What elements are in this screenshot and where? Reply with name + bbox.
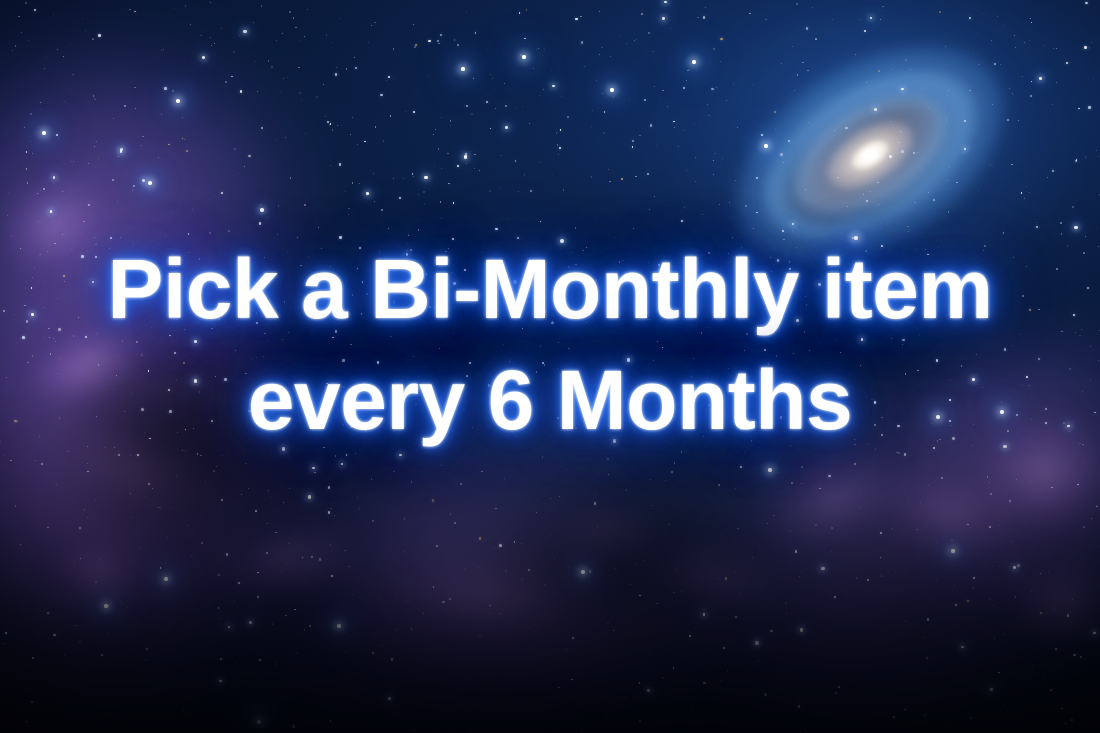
star-faint: [266, 426, 267, 427]
star-faint: [565, 649, 566, 650]
star-faint: [865, 251, 866, 252]
star-faint: [1014, 596, 1015, 597]
star-beacon: [1000, 410, 1004, 414]
star-small: [687, 307, 689, 309]
star-small: [1026, 376, 1028, 378]
star-faint: [96, 416, 97, 417]
star-small: [1067, 614, 1070, 617]
star-faint: [145, 659, 147, 661]
star-bright: [755, 641, 759, 645]
star-faint: [183, 710, 185, 712]
star-faint: [619, 261, 620, 262]
star-faint: [578, 592, 579, 593]
star-faint: [734, 572, 735, 573]
star-faint: [882, 630, 883, 631]
star-faint: [728, 368, 729, 369]
star-faint: [424, 203, 426, 205]
star-faint: [1067, 245, 1068, 246]
star-faint: [439, 348, 440, 349]
star-faint: [352, 117, 353, 118]
star-faint: [695, 181, 696, 182]
star-small: [332, 337, 334, 339]
star-faint: [1063, 422, 1065, 424]
star-faint: [596, 279, 598, 281]
star-small: [149, 438, 151, 440]
star-faint: [48, 328, 49, 329]
star-small: [160, 567, 162, 569]
star-faint: [708, 115, 709, 116]
star-faint: [722, 158, 723, 159]
star-faint: [1016, 479, 1017, 480]
star-faint: [900, 156, 901, 157]
star-faint: [122, 340, 124, 342]
star-faint: [444, 442, 446, 444]
star-small: [53, 634, 56, 637]
star-faint: [809, 350, 810, 351]
star-small: [226, 553, 228, 555]
star-faint: [200, 35, 201, 36]
star-faint: [445, 251, 447, 253]
star-faint: [624, 696, 625, 697]
star-faint: [891, 689, 892, 690]
star-small: [1088, 106, 1091, 109]
star-faint: [661, 425, 662, 426]
star-faint: [40, 190, 41, 191]
star-faint: [44, 68, 45, 69]
star-bright: [1067, 425, 1070, 428]
star-faint: [779, 472, 780, 473]
star-faint: [490, 613, 491, 614]
star-faint: [256, 312, 258, 314]
star-faint: [182, 117, 183, 118]
star-faint: [185, 450, 187, 452]
star-faint: [118, 156, 119, 157]
star-faint: [703, 436, 704, 437]
star-faint: [1022, 76, 1023, 77]
star-faint: [211, 45, 212, 46]
star-faint: [969, 90, 970, 91]
star-beacon: [936, 415, 941, 420]
star-faint: [837, 396, 838, 397]
star-faint: [300, 265, 302, 267]
star-small: [933, 199, 935, 201]
star-faint: [775, 682, 776, 683]
star-faint: [282, 339, 284, 341]
star-small: [406, 390, 408, 392]
star-faint: [847, 593, 848, 594]
star-faint: [1098, 246, 1100, 248]
star-faint: [921, 584, 922, 585]
star-small: [880, 557, 882, 559]
star-faint: [325, 523, 326, 524]
star-faint: [701, 332, 702, 333]
star-faint: [98, 268, 100, 270]
star-small: [362, 281, 364, 283]
star-faint: [783, 239, 784, 240]
star-small: [489, 605, 491, 607]
star-faint: [1043, 676, 1045, 678]
star-faint: [366, 293, 368, 295]
star-faint: [11, 236, 12, 237]
star-small: [763, 421, 765, 423]
star-faint: [571, 245, 572, 246]
star-faint: [544, 49, 546, 51]
star-faint: [589, 582, 590, 583]
star-faint: [891, 338, 892, 339]
star-faint: [881, 576, 882, 577]
star-small: [806, 27, 809, 30]
star-faint: [769, 416, 771, 418]
star-faint: [321, 248, 322, 249]
star-faint: [987, 476, 988, 477]
star-bright: [889, 273, 893, 277]
star-faint: [757, 660, 759, 662]
star-faint: [438, 43, 440, 45]
star-faint: [329, 342, 331, 344]
star-faint: [349, 503, 350, 504]
star-faint: [215, 376, 216, 377]
star-faint: [280, 572, 281, 573]
star-faint: [189, 712, 190, 713]
star-faint: [280, 91, 281, 92]
star-faint: [819, 572, 820, 573]
star-faint: [675, 674, 676, 675]
star-faint: [99, 558, 101, 560]
star-faint: [735, 488, 736, 489]
star-small: [495, 228, 498, 231]
star-faint: [307, 9, 309, 11]
star-faint: [199, 258, 200, 259]
star-faint: [1006, 710, 1007, 711]
star-small: [756, 177, 758, 179]
star-faint: [690, 653, 691, 654]
star-faint: [908, 501, 909, 502]
star-small: [834, 596, 836, 598]
star-small: [589, 570, 592, 573]
star-bright: [1003, 445, 1006, 448]
star-faint: [67, 451, 68, 452]
star-faint: [656, 145, 657, 146]
star-beacon: [581, 570, 585, 574]
star-small: [740, 466, 742, 468]
star-small: [31, 287, 33, 289]
star-faint: [780, 696, 781, 697]
star-faint: [78, 317, 79, 318]
star-faint: [796, 247, 797, 248]
star-faint: [586, 567, 587, 568]
star-faint: [267, 340, 268, 341]
star-faint: [184, 329, 185, 330]
star-faint: [332, 42, 333, 43]
star-faint: [1011, 164, 1013, 166]
star-faint: [878, 50, 880, 52]
star-faint: [1038, 309, 1039, 310]
star-small: [770, 630, 773, 633]
star-small: [998, 672, 1000, 674]
star-faint: [200, 455, 201, 456]
star-faint: [566, 469, 567, 470]
star-faint: [185, 5, 187, 7]
star-small: [466, 375, 468, 377]
star-faint: [757, 726, 758, 727]
star-faint: [414, 46, 416, 48]
star-faint: [39, 436, 40, 437]
star-faint: [330, 266, 331, 267]
star-faint: [1093, 78, 1094, 79]
star-faint: [1022, 295, 1024, 297]
star-faint: [169, 623, 171, 625]
star-faint: [849, 419, 851, 421]
star-small: [927, 254, 929, 256]
star-small: [641, 13, 643, 15]
star-faint: [166, 656, 167, 657]
star-faint: [348, 208, 349, 209]
star-small: [735, 296, 737, 298]
star-faint: [558, 154, 559, 155]
star-faint: [925, 249, 926, 250]
star-faint: [744, 266, 746, 268]
star-bright: [31, 313, 34, 316]
star-faint: [908, 231, 909, 232]
star-faint: [391, 578, 392, 579]
nebula-wisp: [634, 526, 785, 624]
star-faint: [716, 87, 717, 88]
star-beacon: [764, 144, 768, 148]
star-faint: [49, 681, 50, 682]
star-faint: [37, 632, 38, 633]
star-faint: [905, 59, 907, 61]
star-faint: [386, 80, 387, 81]
star-faint: [806, 304, 807, 305]
star-faint: [1069, 368, 1071, 370]
star-faint: [536, 371, 537, 372]
star-faint: [686, 170, 687, 171]
star-faint: [395, 596, 396, 597]
star-faint: [987, 312, 988, 313]
star-beacon: [42, 131, 47, 136]
star-faint: [708, 252, 710, 254]
star-faint: [804, 331, 806, 333]
star-small: [1052, 170, 1054, 172]
star-small: [146, 648, 148, 650]
star-small: [499, 544, 502, 547]
star-small: [789, 261, 791, 263]
star-faint: [4, 665, 5, 666]
star-faint: [465, 289, 467, 291]
headline-line-2: every 6 Months: [0, 345, 1100, 456]
star-faint: [593, 533, 594, 534]
star-faint: [257, 91, 258, 92]
star-faint: [1084, 659, 1085, 660]
star-faint: [892, 528, 893, 529]
star-faint: [379, 251, 380, 252]
star-beacon: [148, 181, 153, 186]
star-small: [359, 247, 361, 249]
star-bright: [120, 148, 123, 151]
star-faint: [348, 214, 349, 215]
star-faint: [719, 204, 720, 205]
star-faint: [63, 723, 64, 724]
star-faint: [32, 153, 33, 154]
star-faint: [408, 233, 409, 234]
star-faint: [686, 80, 687, 81]
star-faint: [920, 502, 921, 503]
star-faint: [107, 462, 109, 464]
star-small: [703, 682, 706, 685]
star-faint: [44, 307, 45, 308]
star-faint: [55, 411, 56, 412]
star-faint: [520, 54, 522, 56]
star-faint: [990, 164, 991, 165]
star-faint: [124, 105, 125, 106]
star-small: [551, 322, 553, 324]
star-faint: [599, 11, 600, 12]
star-faint: [53, 338, 54, 339]
nebula-right-edge: [900, 330, 1100, 630]
star-faint: [167, 537, 168, 538]
star-faint: [275, 140, 276, 141]
star-small: [411, 628, 413, 630]
star-small: [897, 425, 899, 427]
star-bright: [424, 176, 428, 180]
star-faint: [648, 262, 649, 263]
star-faint: [1030, 18, 1031, 19]
star-faint: [557, 368, 558, 369]
star-small: [182, 138, 184, 140]
star-small: [452, 238, 454, 240]
star-faint: [982, 13, 983, 14]
star-faint: [323, 84, 324, 85]
star-faint: [151, 327, 153, 329]
star-small: [331, 575, 333, 577]
star-faint: [670, 28, 671, 29]
star-small: [594, 502, 596, 504]
star-small: [874, 401, 876, 403]
star-faint: [98, 158, 99, 159]
star-small: [3, 310, 5, 312]
star-small: [118, 454, 120, 456]
star-small: [410, 249, 412, 251]
star-small: [430, 404, 432, 406]
star-faint: [158, 507, 160, 509]
star-faint: [455, 728, 456, 729]
star-faint: [790, 445, 791, 446]
star-small: [810, 412, 812, 414]
star-faint: [773, 398, 774, 399]
star-small: [80, 558, 82, 560]
nebula-wisp: [397, 551, 573, 638]
star-faint: [375, 126, 376, 127]
star-faint: [201, 542, 202, 543]
star-faint: [404, 551, 405, 552]
star-faint: [219, 270, 221, 272]
star-faint: [626, 489, 628, 491]
star-small: [380, 94, 383, 97]
star-faint: [815, 38, 817, 40]
star-faint: [462, 581, 463, 582]
star-small: [867, 579, 869, 581]
star-faint: [554, 593, 555, 594]
star-faint: [263, 356, 264, 357]
star-faint: [6, 377, 7, 378]
star-faint: [49, 337, 50, 338]
star-faint: [470, 151, 471, 152]
star-faint: [1085, 158, 1086, 159]
star-faint: [902, 344, 903, 345]
star-faint: [437, 275, 438, 276]
star-small: [240, 90, 242, 92]
star-faint: [407, 601, 409, 603]
star-faint: [587, 718, 588, 719]
star-faint: [732, 237, 734, 239]
star-small: [936, 359, 938, 361]
star-small: [81, 255, 84, 258]
star-faint: [250, 270, 252, 272]
star-faint: [1012, 345, 1013, 346]
star-faint: [771, 271, 772, 272]
star-small: [311, 556, 313, 558]
star-small: [989, 526, 991, 528]
star-small: [735, 616, 737, 618]
star-beacon: [768, 468, 772, 472]
star-faint: [87, 463, 88, 464]
star-faint: [1078, 602, 1079, 603]
star-faint: [73, 161, 74, 162]
star-faint: [114, 447, 115, 448]
star-small: [255, 510, 257, 512]
star-faint: [819, 407, 820, 408]
star-faint: [698, 283, 699, 284]
star-faint: [905, 620, 906, 621]
star-small: [926, 657, 928, 659]
star-faint: [290, 177, 292, 179]
star-faint: [59, 666, 60, 667]
galaxy-core: [847, 135, 893, 175]
star-faint: [261, 655, 263, 657]
star-faint: [413, 356, 414, 357]
star-beacon: [164, 577, 169, 582]
star-faint: [479, 635, 480, 636]
star-faint: [893, 288, 894, 289]
star-faint: [644, 560, 645, 561]
star-faint: [116, 375, 117, 376]
star-faint: [132, 190, 133, 191]
star-faint: [136, 341, 138, 343]
star-faint: [157, 268, 159, 270]
star-faint: [142, 721, 143, 722]
star-small: [433, 586, 435, 588]
star-small: [429, 306, 431, 308]
star-faint: [1056, 82, 1057, 83]
star-small: [449, 598, 451, 600]
star-faint: [361, 313, 362, 314]
star-faint: [393, 178, 394, 179]
star-faint: [1029, 385, 1030, 386]
star-faint: [831, 527, 833, 529]
star-small: [499, 613, 501, 615]
star-small: [877, 182, 879, 184]
star-small: [681, 220, 684, 223]
star-faint: [678, 382, 679, 383]
star-faint: [1022, 385, 1023, 386]
nebula-right-lower: [648, 349, 1100, 733]
star-small: [186, 150, 188, 152]
star-faint: [870, 191, 871, 192]
star-faint: [880, 575, 882, 577]
star-faint: [128, 691, 129, 692]
star-faint: [1075, 685, 1076, 686]
star-small: [904, 709, 906, 711]
